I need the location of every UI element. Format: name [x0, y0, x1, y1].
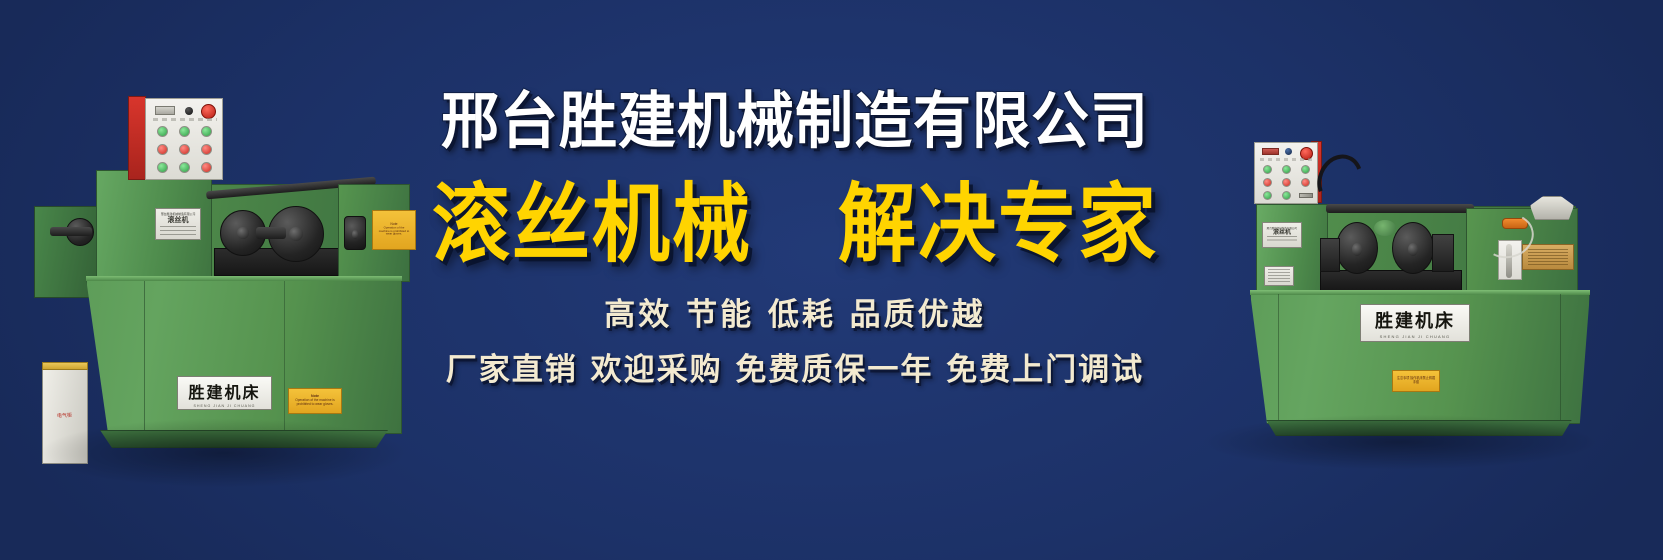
banner-text-block: 邢台胜建机械制造有限公司 滚丝机械 解决专家 高效 节能 低耗 品质优越 厂家直…	[400, 90, 1190, 386]
cabinet-label: 电气柜	[57, 413, 72, 420]
body-seam-r2	[1560, 294, 1561, 422]
spec-plate-rows	[160, 226, 195, 235]
thread-rolling-machine-left: 邢台胜建机械制造有限公司 滚丝机 Note Operation of the m…	[28, 88, 420, 478]
panel-button-r3[interactable]	[1301, 165, 1310, 174]
body-seam-2	[284, 280, 285, 432]
spec-rows-2	[1268, 269, 1290, 283]
control-panel-right[interactable]	[1254, 142, 1318, 204]
spec-plate-company-right: 邢台胜建机械制造有限公司	[1267, 227, 1297, 230]
promo-banner: 邢台胜建机械制造有限公司 滚丝机 Note Operation of the m…	[0, 0, 1663, 560]
copper-plate-rows	[1528, 249, 1568, 265]
nameplate-zh: 胜建机床	[188, 379, 260, 403]
panel-button-9[interactable]	[201, 162, 212, 173]
spec-plate-company: 邢台胜建机械制造有限公司	[161, 213, 195, 216]
headline-right: 解决专家	[838, 182, 1158, 268]
panel-button-6[interactable]	[201, 144, 212, 155]
nameplate-py: SHENG JIAN JI CHUANG	[194, 404, 256, 408]
panel-button-r8[interactable]	[1282, 191, 1291, 200]
machine-shadow-right	[1200, 414, 1600, 470]
panel-label-row-right	[1260, 158, 1314, 161]
control-display	[155, 106, 175, 115]
panel-button-r2[interactable]	[1282, 165, 1291, 174]
warning-text-right: 注意事项 操作机床禁止佩戴手套	[1395, 378, 1437, 385]
panel-label-row	[153, 118, 217, 121]
machine-nameplate-right: 胜建机床 SHENG JIAN JI CHUANG	[1360, 304, 1470, 342]
control-panel-side	[128, 96, 146, 180]
panel-button-2[interactable]	[179, 126, 190, 137]
thread-rolling-machine-right: 邢台胜建机械制造有限公司 滚丝机 胜建机床	[1160, 118, 1630, 458]
panel-button-7[interactable]	[157, 162, 168, 173]
warning-label-body: Note Operation of the machine is prohibi…	[288, 388, 342, 414]
machine-nameplate-left: 胜建机床 SHENG JIAN JI CHUANG	[177, 376, 272, 410]
rolling-shaft	[256, 227, 286, 239]
panel-indicator-bar	[1299, 193, 1313, 198]
panel-button-8[interactable]	[179, 162, 190, 173]
spec-plate-rows-right	[1267, 236, 1297, 243]
spec-plate-left: 邢台胜建机械制造有限公司 滚丝机	[155, 208, 201, 240]
panel-button-5[interactable]	[179, 144, 190, 155]
headline-left: 滚丝机械	[432, 182, 752, 268]
spec-plate-right: 邢台胜建机械制造有限公司 滚丝机	[1262, 222, 1302, 248]
die-holder-right	[1432, 234, 1454, 272]
top-guide-rail-right	[1326, 204, 1474, 213]
control-panel-left[interactable]	[145, 98, 223, 180]
tagline: 高效 节能 低耗 品质优越	[400, 300, 1190, 331]
copper-plate-right	[1522, 244, 1574, 270]
cabinet-top-cap	[42, 362, 88, 370]
spec-plate-right-2	[1264, 266, 1294, 286]
panel-button-1[interactable]	[157, 126, 168, 137]
machine-shadow	[38, 418, 408, 488]
panel-button-r1[interactable]	[1263, 165, 1272, 174]
selector-knob-icon[interactable]	[185, 107, 193, 115]
nameplate-py-right: SHENG JIAN JI CHUANG	[1380, 334, 1451, 339]
rolling-die-r2	[1392, 222, 1434, 274]
rolling-die-r1	[1336, 222, 1378, 274]
green-disc	[1374, 220, 1396, 236]
nozzle-assembly	[1530, 196, 1574, 220]
control-display-right	[1262, 148, 1279, 155]
body-seam-r1	[1278, 294, 1279, 422]
nameplate-zh-right: 胜建机床	[1375, 307, 1455, 333]
drive-shaft-left	[50, 227, 92, 236]
promise-line: 厂家直销 欢迎采购 免费质保一年 免费上门调试	[400, 355, 1190, 386]
warning-text: Operation of the machine is prohibited t…	[292, 399, 339, 406]
body-seam-1	[144, 280, 145, 432]
spec-plate-model-right: 滚丝机	[1273, 230, 1291, 237]
selector-knob-icon-right[interactable]	[1285, 148, 1292, 155]
headline-row: 滚丝机械 解决专家	[400, 182, 1190, 260]
roller-base-right	[1320, 270, 1462, 292]
machine-main-body	[86, 278, 402, 434]
panel-button-r7[interactable]	[1263, 191, 1272, 200]
emergency-stop-button[interactable]	[201, 104, 216, 119]
warning-label-right: 注意事项 操作机床禁止佩戴手套	[1392, 370, 1440, 392]
panel-button-r6[interactable]	[1301, 178, 1310, 187]
panel-button-3[interactable]	[201, 126, 212, 137]
panel-button-r5[interactable]	[1282, 178, 1291, 187]
panel-button-r4[interactable]	[1263, 178, 1272, 187]
tail-spindle	[344, 216, 366, 250]
company-name: 邢台胜建机械制造有限公司	[400, 90, 1190, 151]
body-top-edge-right	[1250, 290, 1590, 295]
spec-plate-model: 滚丝机	[168, 217, 189, 225]
die-holder-left	[1320, 238, 1340, 272]
body-top-edge	[86, 276, 402, 281]
panel-button-4[interactable]	[157, 144, 168, 155]
